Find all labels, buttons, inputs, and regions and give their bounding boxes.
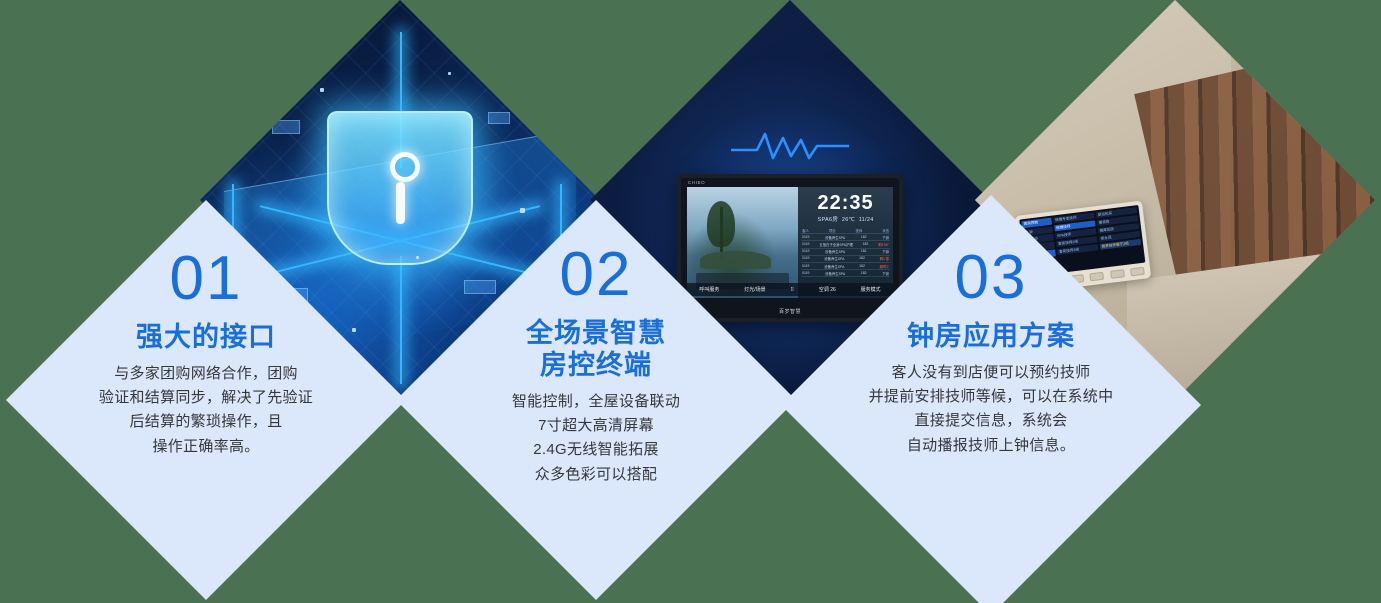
glow-dot <box>520 208 525 213</box>
table-cell: 182 <box>861 271 867 276</box>
table-cell: 0119 <box>802 235 809 240</box>
clock-subline: SPA6房 26℃ 11/24 <box>801 215 890 223</box>
card-description-line: 7寸超大高清屏幕 <box>512 414 680 438</box>
card-number: 01 <box>170 248 243 310</box>
table-cell-status: 剩1'50" <box>878 242 889 247</box>
toolbar-button[interactable]: 服务模式 <box>861 286 881 293</box>
service-table: 客人 项目 技师 状态 0119 设备养生SPA 182 下钟 <box>801 227 890 277</box>
glow-dot <box>320 88 324 92</box>
table-cell: 下钟 <box>882 249 889 254</box>
table-header-cell: 客人 <box>802 228 809 233</box>
potted-plant <box>1205 298 1295 384</box>
card-headline-line: 房控终端 <box>526 350 666 382</box>
card-headline: 全场景智慧 房控终端 <box>526 318 666 382</box>
card-description: 客人没有到店便可以预约技师 并提前安排技师等候，可以在系统中 直接提交信息，系统… <box>869 361 1114 458</box>
table-cell: 181 <box>861 249 867 254</box>
chip-block <box>488 112 510 124</box>
table-header-cell: 状态 <box>882 228 889 233</box>
table-cell: 设备养生SPA <box>825 271 845 276</box>
card-description-line: 直接提交信息，系统会 <box>869 409 1114 433</box>
card-headline: 强大的接口 <box>136 322 276 354</box>
card-headline-line: 强大的接口 <box>136 322 276 354</box>
info-sidebar: 22:35 SPA6房 26℃ 11/24 客人 项目 技师 状态 <box>798 187 893 298</box>
table-row: 0119 设备养生SPA 182 超时2' <box>801 263 890 270</box>
shield-lock-icon <box>327 111 473 265</box>
key-button[interactable] <box>1089 272 1104 282</box>
card-headline: 钟房应用方案 <box>907 321 1075 353</box>
wallpaper-photo <box>687 187 798 298</box>
table-cell: 0119 <box>802 271 809 276</box>
table-cell: 设备养生SPA <box>825 235 845 240</box>
key-button[interactable] <box>1130 267 1145 277</box>
room-label: SPA6房 <box>818 217 839 223</box>
card-description-line: 2.4G无线智能拓展 <box>512 438 680 462</box>
table-row: 0119 设备养生SPA 182 下钟 <box>801 234 890 241</box>
toolbar-button[interactable]: 灯光/场景 <box>744 286 765 293</box>
table-header-row: 客人 项目 技师 状态 <box>801 227 890 234</box>
feature-diamonds-stage: CHIBO 22:35 SPA6房 26℃ 11/24 <box>0 0 1381 603</box>
card-description-line: 智能控制，全屋设备联动 <box>512 390 680 414</box>
table-header-cell: 技师 <box>856 228 863 233</box>
card-description-line: 与多家团购网络合作，团购 <box>99 362 313 386</box>
card-description: 与多家团购网络合作，团购 验证和结算同步，解决了先验证 后结算的繁琐操作，且 操… <box>99 362 313 459</box>
table-row: 0119 设备养生SPA 182 剩1'零 <box>801 256 890 263</box>
tree-shape <box>720 207 723 258</box>
table-cell: 下钟 <box>882 235 889 240</box>
table-cell: 182 <box>859 264 865 269</box>
glow-dot <box>416 256 419 259</box>
glow-dot <box>352 328 356 332</box>
table-cell: 0119 <box>802 264 809 269</box>
table-header-cell: 项目 <box>829 228 836 233</box>
card-description-line: 验证和结算同步，解决了先验证 <box>99 386 313 410</box>
key-button[interactable] <box>1110 269 1125 279</box>
device-screen: 22:35 SPA6房 26℃ 11/24 客人 项目 技师 状态 <box>687 187 893 298</box>
temperature-value: 26℃ <box>842 217 855 223</box>
card-headline-line: 全场景智慧 <box>526 318 666 350</box>
table-cell: 设备养生SPA <box>824 256 844 261</box>
pulse-wave-icon <box>731 128 849 169</box>
card-headline-line: 钟房应用方案 <box>907 321 1075 353</box>
date-value: 11/24 <box>859 217 874 223</box>
card-description-line: 客人没有到店便可以预约技师 <box>869 361 1114 385</box>
table-cell: 下钟 <box>882 271 889 276</box>
table-cell: 182 <box>861 235 867 240</box>
card-number: 02 <box>560 244 633 306</box>
table-cell-status: 剩1'零 <box>880 256 889 261</box>
table-cell: 182 <box>859 256 865 261</box>
card-description-line: 后结算的繁琐操作，且 <box>99 410 313 434</box>
island-shape <box>700 251 771 269</box>
toolbar-button[interactable]: 呼叫服务 <box>699 286 719 293</box>
table-cell: 设备养生SPA <box>825 249 845 254</box>
chip-block <box>272 120 300 134</box>
device-brand-bottom: 百岁智慧 <box>681 308 899 315</box>
toolbar-button[interactable]: 空调 26 <box>819 286 836 293</box>
table-row: 0119 五指白子全身SPA护理 182 剩1'50" <box>801 241 890 248</box>
table-row: 0119 设备养生SPA 182 下钟 <box>801 270 890 277</box>
table-cell: 0119 <box>802 256 809 261</box>
card-description-line: 众多色彩可以搭配 <box>512 463 680 487</box>
table-cell: 五指白子全身SPA护理 <box>819 242 853 247</box>
card-number: 03 <box>955 247 1028 309</box>
glow-dot <box>448 72 451 75</box>
light-beam <box>400 256 402 384</box>
card-description-line: 操作正确率高。 <box>99 435 313 459</box>
clock-time: 22:35 <box>801 193 890 213</box>
wall-tablet-device: CHIBO 22:35 SPA6房 26℃ 11/24 <box>677 174 903 322</box>
card-description-line: 并提前安排技师等候，可以在系统中 <box>869 385 1114 409</box>
table-cell: 182 <box>863 242 869 247</box>
chip-block <box>464 280 496 294</box>
card-description-line: 自动播报技师上钟信息。 <box>869 434 1114 458</box>
table-cell-status: 超时2' <box>880 264 889 269</box>
table-row: 0119 设备养生SPA 181 下钟 <box>801 249 890 256</box>
table-cell: 设备养生SPA <box>824 264 844 269</box>
table-cell: 0119 <box>802 249 809 254</box>
card-description: 智能控制，全屋设备联动 7寸超大高清屏幕 2.4G无线智能拓展 众多色彩可以搭配 <box>512 390 680 487</box>
device-brand-top: CHIBO <box>688 180 705 185</box>
table-cell: 0119 <box>802 242 809 247</box>
device-bottom-toolbar: 呼叫服务 灯光/场景 ⠿ 空调 26 服务模式 <box>687 283 893 296</box>
apps-grid-icon[interactable]: ⠿ <box>790 287 794 293</box>
panel-right-column: 保健专家技师 足浴包房 保健技师 搓背房 SPA技师 按摩区房 客房技师2组 <box>1051 207 1143 271</box>
